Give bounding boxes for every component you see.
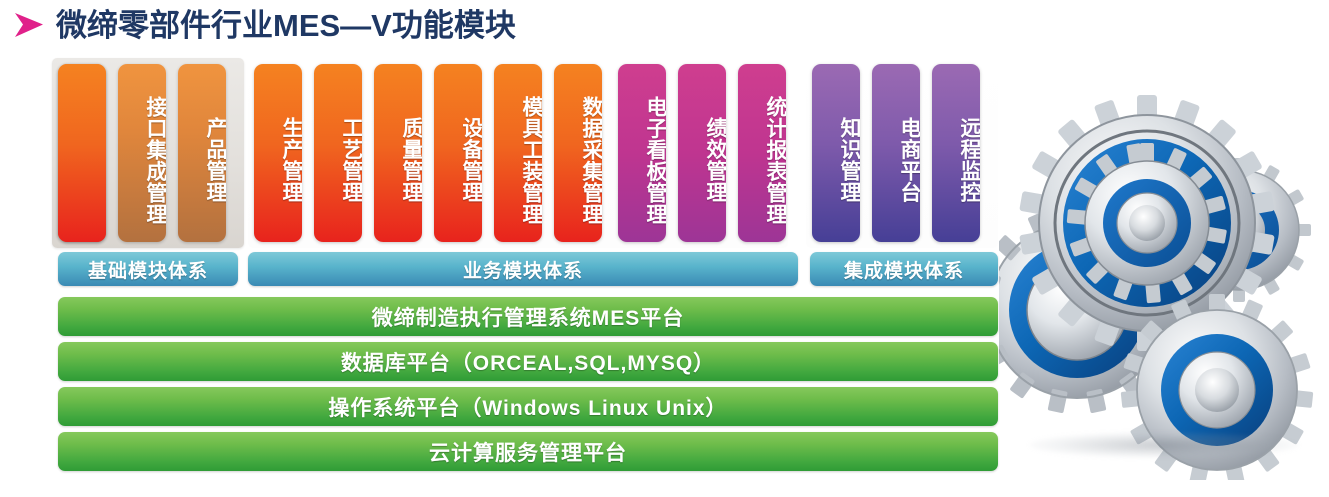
platform-bar-os[interactable]: 操作系统平台（Windows Linux Unix）: [58, 387, 998, 426]
module-column-group: 基础配置管理 接口集成管理 产品管理 生产管理 工艺管理 质量管理 设备管理 模…: [58, 64, 998, 242]
gears-icon: [999, 80, 1329, 480]
module-column-gongyiguanli[interactable]: 工艺管理: [314, 64, 362, 242]
module-system-group: 基础模块体系 业务模块体系 集成模块体系: [58, 252, 998, 286]
module-column-chanpinguanli[interactable]: 产品管理: [178, 64, 226, 242]
system-bar-business[interactable]: 业务模块体系: [248, 252, 798, 286]
chevron-right-arrow-icon: [12, 10, 46, 40]
platform-bar-database[interactable]: 数据库平台（ORCEAL,SQL,MYSQ）: [58, 342, 998, 381]
module-column-zhiliangguanli[interactable]: 质量管理: [374, 64, 422, 242]
module-column-dianshangpingtai[interactable]: 电商平台: [872, 64, 920, 242]
module-column-shebeiguanli[interactable]: 设备管理: [434, 64, 482, 242]
module-column-zhishiguanli[interactable]: 知识管理: [812, 64, 860, 242]
page-title: 微缔零部件行业MES—V功能模块: [56, 10, 516, 41]
module-column-shujucaijiguanli[interactable]: 数据采集管理: [554, 64, 602, 242]
system-bar-integration[interactable]: 集成模块体系: [810, 252, 998, 286]
module-column-tongjibaobiaoguanli[interactable]: 统计报表管理: [738, 64, 786, 242]
gears-ground-shadow: [1029, 432, 1299, 458]
module-column-dianzikanbanguanli[interactable]: 电子看板管理: [618, 64, 666, 242]
platform-bar-mes[interactable]: 微缔制造执行管理系统MES平台: [58, 297, 998, 336]
system-bar-base[interactable]: 基础模块体系: [58, 252, 238, 286]
gears-illustration: [999, 80, 1329, 480]
platform-layer-group: 微缔制造执行管理系统MES平台 数据库平台（ORCEAL,SQL,MYSQ） 操…: [58, 297, 998, 477]
platform-bar-cloud[interactable]: 云计算服务管理平台: [58, 432, 998, 471]
module-column-jiekoujichengguanli[interactable]: 接口集成管理: [118, 64, 166, 242]
page-title-row: 微缔零部件行业MES—V功能模块: [0, 2, 516, 48]
module-column-mojugongzhuangguanli[interactable]: 模具工装管理: [494, 64, 542, 242]
spacer: [58, 64, 106, 242]
module-column-yuanchengjiankong[interactable]: 远程监控: [932, 64, 980, 242]
module-column-jixiaoguanli[interactable]: 绩效管理: [678, 64, 726, 242]
module-column-shengchanguanli[interactable]: 生产管理: [254, 64, 302, 242]
